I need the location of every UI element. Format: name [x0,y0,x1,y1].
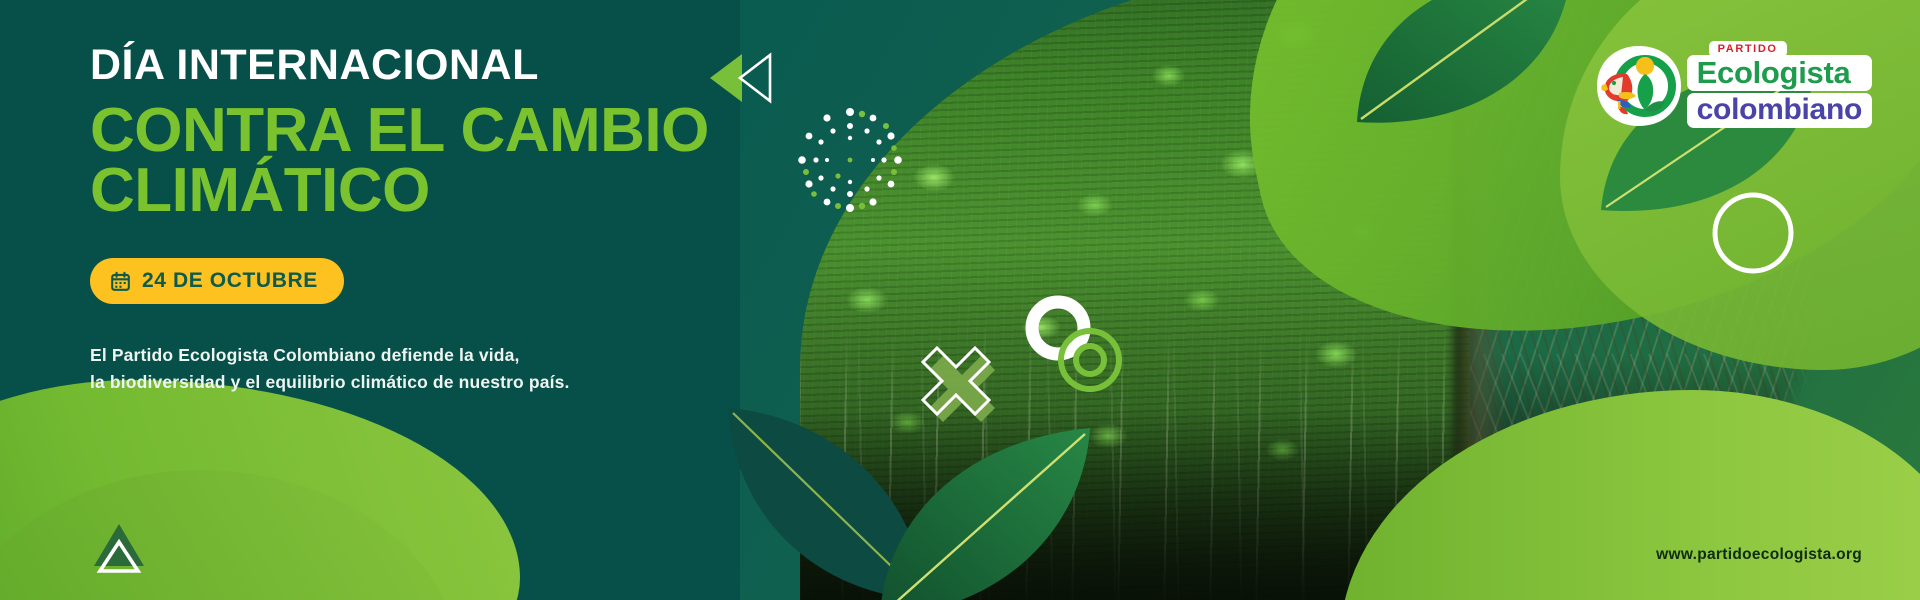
headline-line-1: CONTRA EL CAMBIO [90,101,810,161]
climate-day-banner: DÍA INTERNACIONAL CONTRA EL CAMBIO CLIMÁ… [0,0,1920,600]
leaf-icon [1345,0,1585,139]
parrot-leaf-circle-logo [1593,44,1685,128]
kicker-row: DÍA INTERNACIONAL [90,44,810,87]
website-url[interactable]: www.partidoecologista.org [1656,546,1862,564]
calendar-icon [110,271,131,292]
logo-partido-text: PARTIDO [1709,41,1787,57]
logo-wordmark: PARTIDO Ecologista colombiano [1687,44,1872,128]
subtext: El Partido Ecologista Colombiano defiend… [90,342,810,396]
kicker-text: DÍA INTERNACIONAL [90,44,539,87]
date-badge[interactable]: 24 DE OCTUBRE [90,258,344,304]
headline: CONTRA EL CAMBIO CLIMÁTICO [90,101,810,220]
subtext-line-2: la biodiversidad y el equilibrio climáti… [90,369,810,396]
logo-ecologista-text: Ecologista [1687,55,1872,91]
date-badge-label: 24 DE OCTUBRE [142,269,318,293]
banner-content: DÍA INTERNACIONAL CONTRA EL CAMBIO CLIMÁ… [90,44,810,396]
leaf-icon [870,420,1100,600]
subtext-line-1: El Partido Ecologista Colombiano defiend… [90,342,810,369]
party-logo[interactable]: PARTIDO Ecologista colombiano [1593,44,1872,128]
logo-colombiano-text: colombiano [1687,93,1872,129]
headline-line-2: CLIMÁTICO [90,161,810,221]
outline-circle-icon [1710,190,1796,276]
double-ring-icon [1020,290,1130,400]
mountain-triangle-emblem [88,516,150,578]
double-cross-icon [915,340,997,427]
